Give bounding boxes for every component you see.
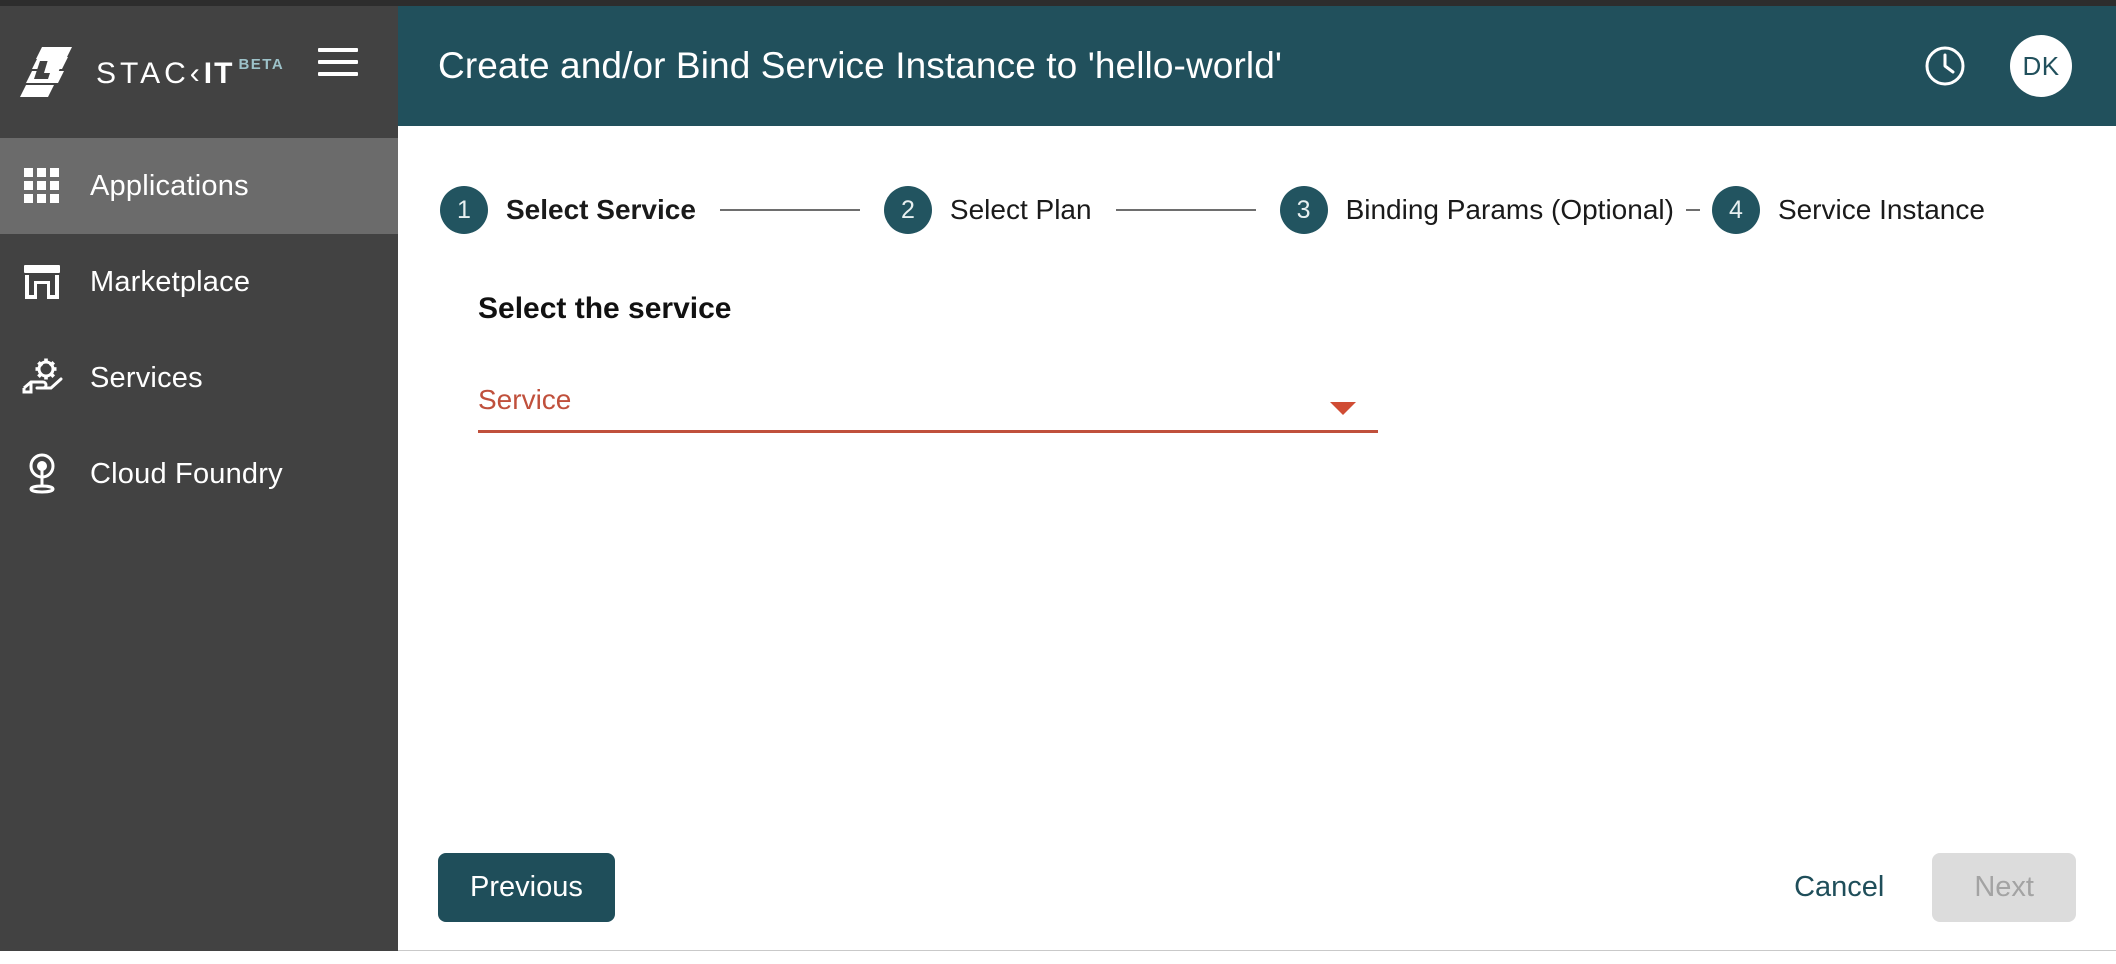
brand-wordmark-k-glyph: ‹ xyxy=(190,57,204,90)
stepper-step-2-number: 2 xyxy=(884,186,932,234)
stepper-step-4[interactable]: 4 Service Instance xyxy=(1712,186,1985,234)
stepper-step-2-label: Select Plan xyxy=(950,194,1092,226)
brand-wordmark: STAC‹ITBETA xyxy=(96,59,280,89)
hamburger-menu-icon[interactable] xyxy=(318,48,358,80)
header-actions: DK xyxy=(1922,35,2072,97)
stepper-step-3-label: Binding Params (Optional) xyxy=(1346,194,1674,226)
service-select-label: Service xyxy=(478,384,1378,430)
stepper-step-2[interactable]: 2 Select Plan xyxy=(884,186,1092,234)
sidebar-item-label: Marketplace xyxy=(90,268,250,297)
main-content: 1 Select Service 2 Select Plan 3 Binding… xyxy=(398,126,2116,958)
grid-apps-icon xyxy=(18,162,66,210)
service-select[interactable]: Service xyxy=(478,384,1378,433)
sidebar-item-label: Services xyxy=(90,364,203,393)
hamburger-bar-2 xyxy=(318,60,358,64)
sidebar-nav: Applications Marketpl xyxy=(0,138,398,522)
sidebar-bottom-fill xyxy=(0,942,398,951)
sidebar-item-applications[interactable]: Applications xyxy=(0,138,398,234)
storefront-icon xyxy=(18,258,66,306)
app-root: STAC‹ITBETA xyxy=(0,0,2116,964)
sidebar-item-services[interactable]: Services xyxy=(0,330,398,426)
next-button: Next xyxy=(1932,853,2076,922)
window-bottom-edge xyxy=(0,950,2116,964)
cloud-foundry-icon xyxy=(18,450,66,498)
gear-in-hand-icon xyxy=(18,354,66,402)
stepper-connector-2-3 xyxy=(1116,209,1256,211)
brand-wordmark-part1: STAC xyxy=(96,57,190,90)
clock-icon[interactable] xyxy=(1922,43,1968,89)
sidebar: STAC‹ITBETA xyxy=(0,6,398,951)
stepper-step-1-label: Select Service xyxy=(506,194,696,226)
stepper-connector-3-4 xyxy=(1686,209,1700,211)
brand-wordmark-part2: IT xyxy=(204,57,235,90)
section-title: Select the service xyxy=(478,292,2116,326)
page-title: Create and/or Bind Service Instance to '… xyxy=(438,45,1282,87)
wizard-footer-actions: Previous Cancel Next xyxy=(398,853,2116,922)
stepper-step-4-label: Service Instance xyxy=(1778,194,1985,226)
previous-button[interactable]: Previous xyxy=(438,853,615,922)
stepper-step-4-number: 4 xyxy=(1712,186,1760,234)
chevron-down-icon[interactable] xyxy=(1330,402,1356,415)
hamburger-bar-1 xyxy=(318,48,358,52)
sidebar-item-marketplace[interactable]: Marketplace xyxy=(0,234,398,330)
sidebar-item-label: Applications xyxy=(90,172,249,201)
hamburger-bar-3 xyxy=(318,72,358,76)
cancel-button[interactable]: Cancel xyxy=(1778,853,1900,922)
stepper-step-1[interactable]: 1 Select Service xyxy=(440,186,696,234)
stepper-step-3-number: 3 xyxy=(1280,186,1328,234)
wizard-stepper: 1 Select Service 2 Select Plan 3 Binding… xyxy=(398,126,2116,234)
sidebar-brand-bar: STAC‹ITBETA xyxy=(0,6,398,138)
stepper-step-3[interactable]: 3 Binding Params (Optional) xyxy=(1280,186,1674,234)
stepper-step-1-number: 1 xyxy=(440,186,488,234)
stackit-logo-icon[interactable] xyxy=(20,47,82,97)
stepper-connector-1-2 xyxy=(720,209,860,211)
sidebar-item-label: Cloud Foundry xyxy=(90,460,283,489)
sidebar-item-cloud-foundry[interactable]: Cloud Foundry xyxy=(0,426,398,522)
beta-badge: BETA xyxy=(238,56,284,73)
page-header: Create and/or Bind Service Instance to '… xyxy=(398,6,2116,126)
service-select-underline xyxy=(478,430,1378,433)
avatar[interactable]: DK xyxy=(2010,35,2072,97)
